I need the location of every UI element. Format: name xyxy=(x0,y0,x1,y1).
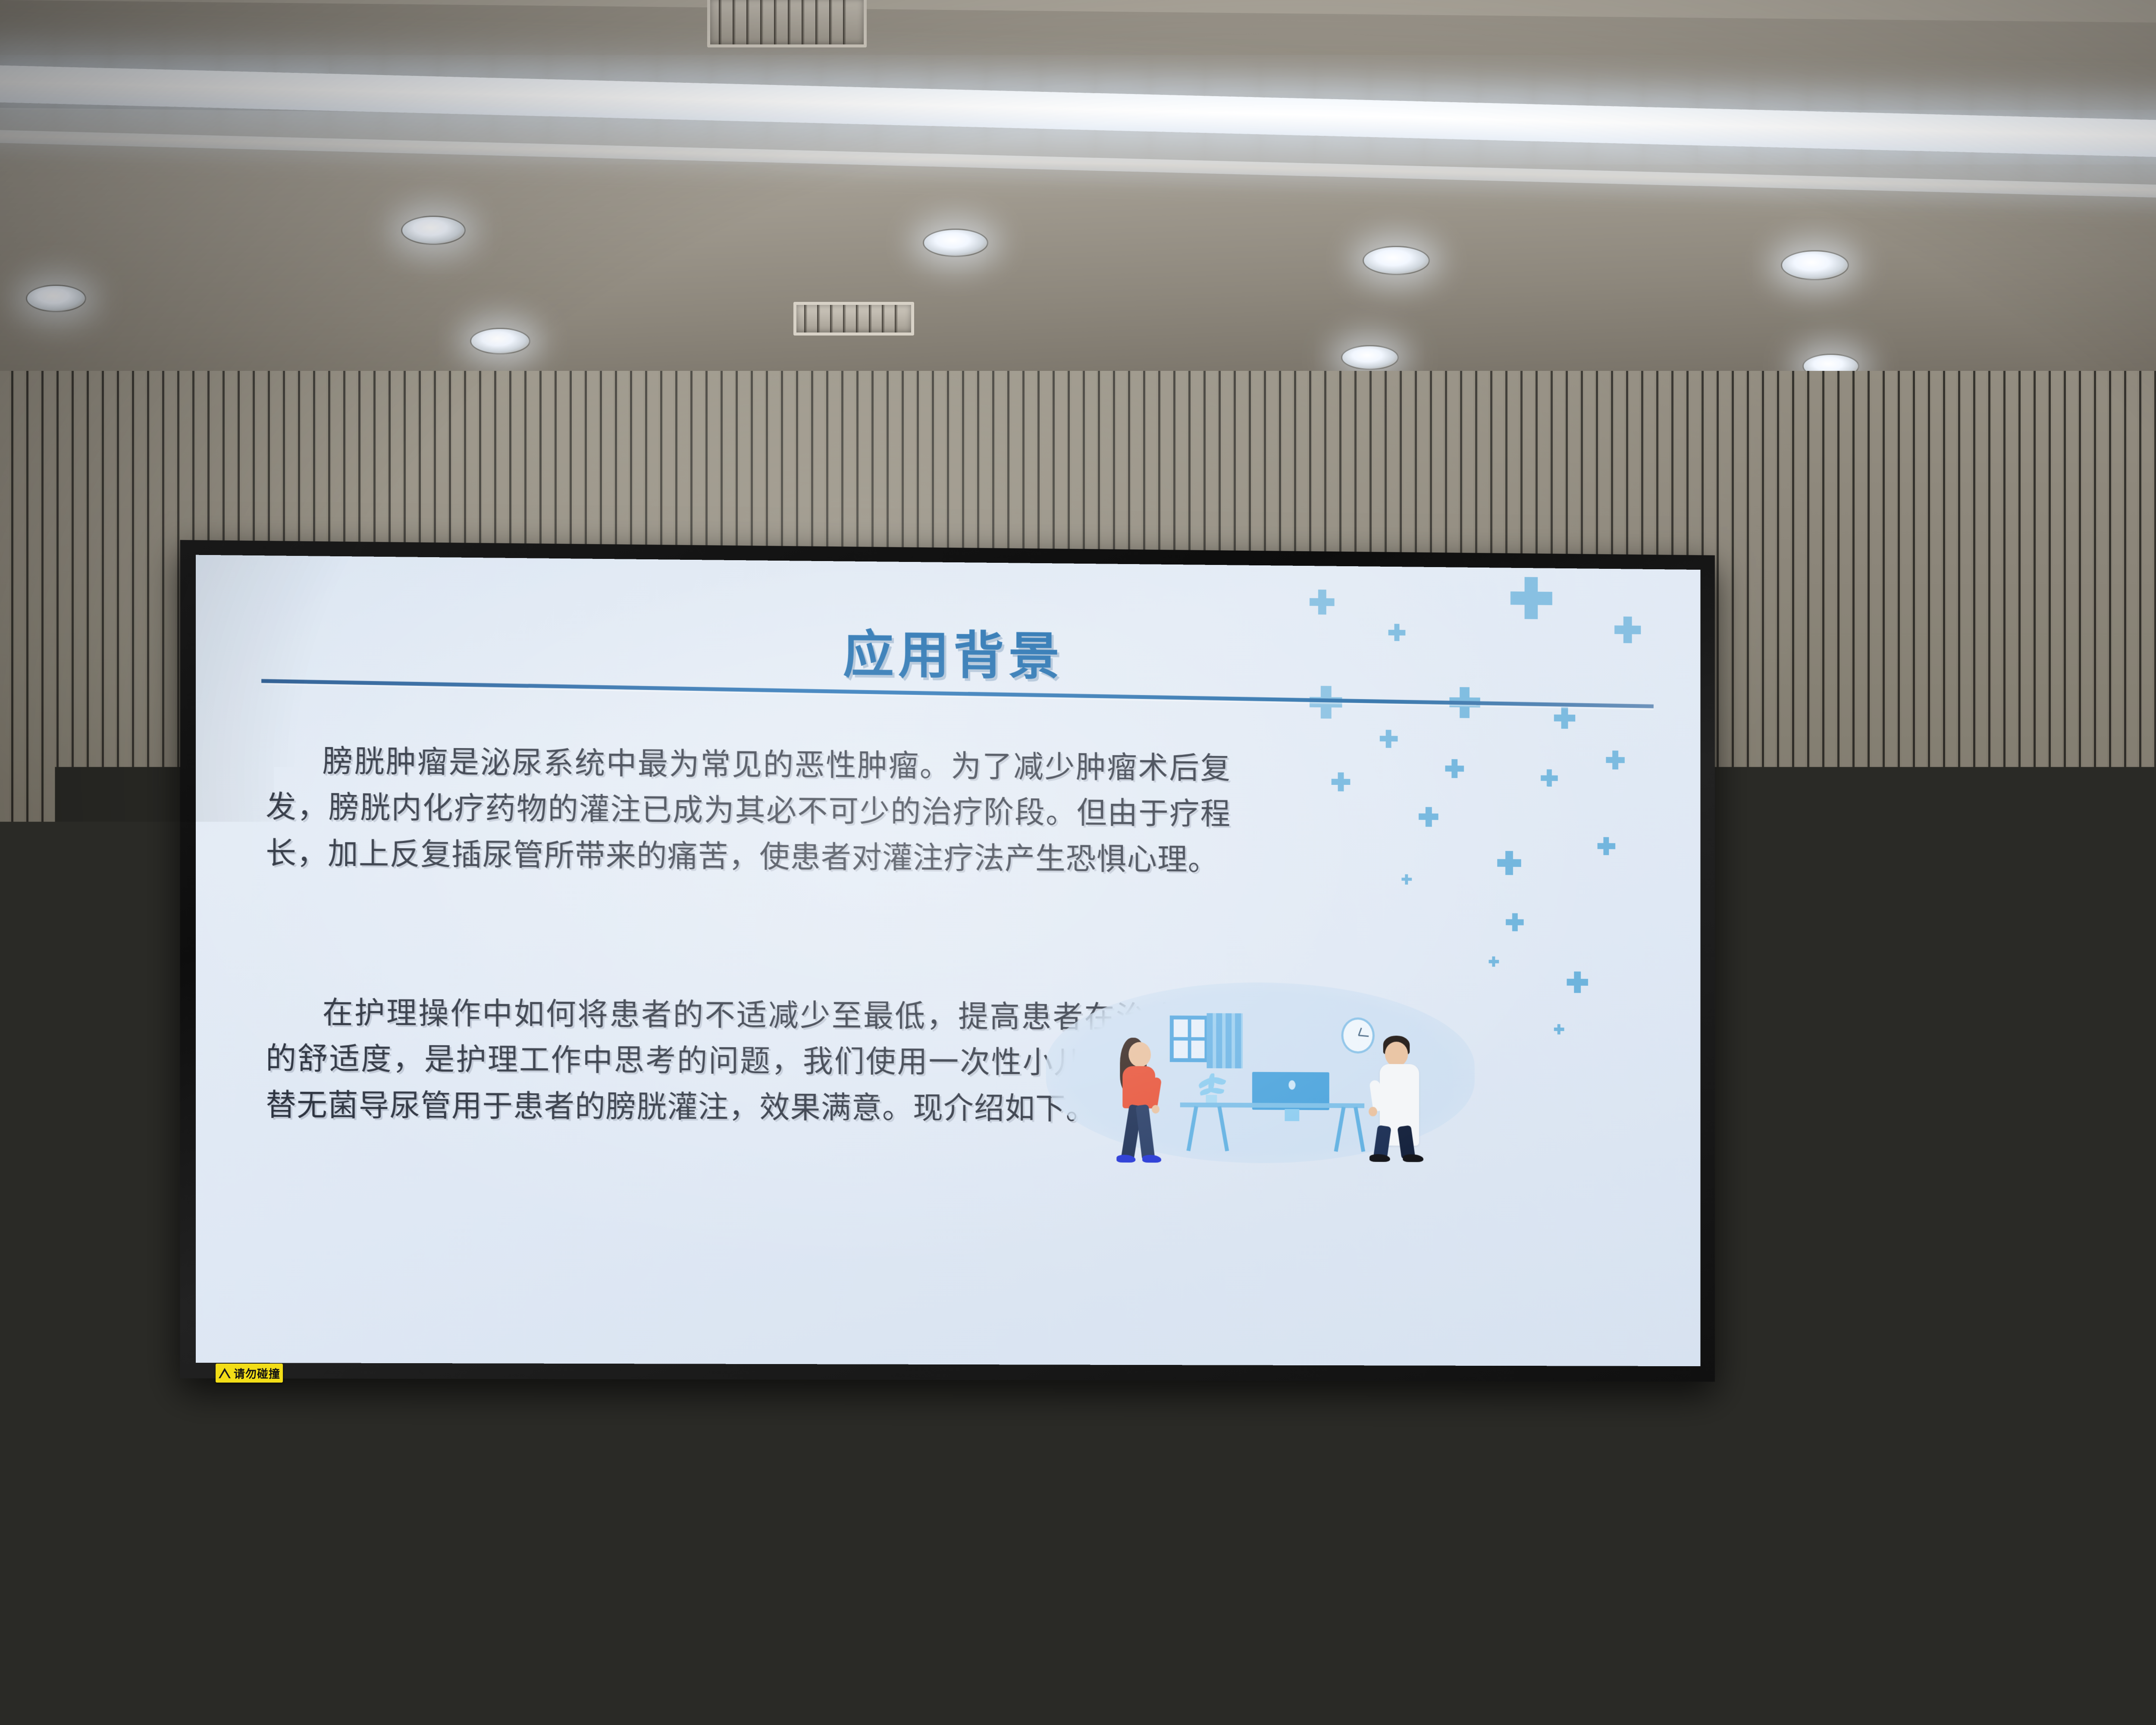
desk-leg xyxy=(1354,1107,1365,1152)
whiteboard-tool-close-icon[interactable] xyxy=(2134,1026,2145,1035)
slide-paragraph-1: 膀胱肿瘤是泌尿系统中最为常见的恶性肿瘤。为了减少肿瘤术后复发，膀胱内化疗药物的灌… xyxy=(266,738,1231,883)
medical-cross-icon xyxy=(1554,707,1575,729)
air-vent xyxy=(793,302,914,336)
desk-leg xyxy=(1334,1107,1346,1152)
whiteboard-tool-grid-icon[interactable] xyxy=(2134,1088,2145,1097)
main-projection-screen[interactable]: 应用背景 膀胱肿瘤是泌尿系统中最为常见的恶性肿瘤。为了减少肿瘤术后复发，膀胱内化… xyxy=(185,548,1720,1380)
whiteboard-tool-select-icon[interactable] xyxy=(2134,1046,2145,1056)
warning-sticker-right: 请勿碰撞 xyxy=(1636,1364,1703,1383)
glasses-lens-left xyxy=(1924,1213,1949,1226)
doctor-shoe-front xyxy=(1403,1154,1423,1162)
medical-cross-icon xyxy=(1379,730,1398,748)
bottle-cap xyxy=(121,1646,138,1662)
left-display-panel[interactable] xyxy=(0,953,121,1333)
presenter-mouth xyxy=(1946,1241,1966,1248)
illustration-curtain-icon xyxy=(1206,1013,1243,1068)
illustration-doctor-figure xyxy=(1368,1035,1432,1164)
illustration-window-icon xyxy=(1170,1016,1209,1062)
ceiling-downlight xyxy=(1781,250,1849,280)
left-panel-tray xyxy=(0,1326,117,1344)
ceiling-downlight xyxy=(26,285,86,312)
window-bar-v xyxy=(1188,1019,1191,1058)
whiteboard-tool-marker-icon[interactable] xyxy=(2134,1150,2145,1159)
presentation-clicker xyxy=(1877,1371,1908,1377)
ceiling-downlight xyxy=(1363,246,1430,275)
left-display-screen xyxy=(0,959,115,1327)
warning-triangle-icon xyxy=(218,1367,231,1379)
illustration-woman-figure xyxy=(1110,1038,1170,1163)
medical-cross-icon xyxy=(1554,1024,1564,1035)
woman-leg-back xyxy=(1135,1104,1155,1160)
warning-sticker-left: 请勿碰撞 xyxy=(216,1364,283,1383)
doctor-head xyxy=(1385,1041,1408,1066)
desk-leg xyxy=(1187,1106,1198,1151)
whiteboard-tool-eraser-icon[interactable] xyxy=(2134,1170,2145,1180)
clinic-illustration xyxy=(1106,994,1445,1168)
whiteboard-tool-pencil-icon[interactable] xyxy=(2134,1129,2145,1138)
whiteboard-tool-pen-icon[interactable] xyxy=(2134,1108,2145,1118)
medical-cross-icon xyxy=(1332,772,1351,791)
whiteboard-tray-label-left xyxy=(1778,1319,1812,1330)
glasses-lens-right xyxy=(1965,1213,1990,1226)
desk-leg xyxy=(1217,1106,1229,1151)
whiteboard-tool-image-icon[interactable] xyxy=(2134,1233,2145,1242)
presenter-hand-right xyxy=(1939,1307,1972,1335)
woman-head xyxy=(1128,1042,1151,1067)
warning-sticker-text: 请勿碰撞 xyxy=(234,1365,280,1381)
warning-sticker-text: 请勿碰撞 xyxy=(1654,1365,1701,1381)
medical-cross-icon xyxy=(1419,807,1438,827)
whiteboard-tray-label-right xyxy=(2110,1319,2156,1330)
clock-minute-hand xyxy=(1359,1035,1369,1037)
badge-number: 9 xyxy=(1995,1293,2009,1312)
illustration-desk xyxy=(1180,1103,1364,1108)
warning-triangle-icon xyxy=(1639,1367,1651,1379)
medical-cross-icon xyxy=(1401,874,1412,884)
doctor-hand xyxy=(1369,1107,1377,1117)
medical-cross-icon xyxy=(1489,957,1499,967)
woman-shoe-back xyxy=(1142,1155,1161,1163)
presenter-number-badge: 9 xyxy=(1984,1289,2020,1317)
lecture-hall-scene: 应用背景 膀胱肿瘤是泌尿系统中最为常见的恶性肿瘤。为了减少肿瘤术后复发，膀胱内化… xyxy=(0,0,2156,1725)
air-vent xyxy=(707,0,867,47)
medical-cross-icon xyxy=(1445,759,1464,778)
water-bottle xyxy=(116,1660,142,1725)
medical-cross-icon xyxy=(1506,913,1524,931)
presenter-trouser-seam xyxy=(1934,1552,1938,1725)
presenter-jacket-button xyxy=(1963,1422,1972,1429)
whiteboard-tool-color-icon[interactable] xyxy=(2134,1212,2145,1221)
side-chair-back xyxy=(0,1404,69,1434)
presentation-slide[interactable]: 应用背景 膀胱肿瘤是泌尿系统中最为常见的恶性肿瘤。为了减少肿瘤术后复发，膀胱内化… xyxy=(196,555,1700,1366)
ceiling-downlight xyxy=(1341,345,1399,370)
side-chair xyxy=(0,1414,52,1621)
presenter-fringe xyxy=(1914,1167,2000,1208)
monitor-camera-dot xyxy=(1288,1080,1295,1090)
medical-cross-icon xyxy=(1567,971,1588,993)
whiteboard-tool-page-icon[interactable] xyxy=(2134,1067,2145,1076)
presenter-figure: 9 xyxy=(1858,1164,2061,1725)
whiteboard-tool-shape-icon[interactable] xyxy=(2134,1191,2145,1201)
woman-hand xyxy=(1152,1105,1159,1113)
monitor-stand xyxy=(1285,1109,1299,1121)
glasses-bridge xyxy=(1950,1218,1965,1220)
whiteboard-brand-logo xyxy=(2092,1264,2140,1277)
medical-cross-icon xyxy=(1606,751,1624,770)
medical-cross-icon xyxy=(1497,851,1521,875)
whiteboard-tool-undo-icon[interactable] xyxy=(2134,1253,2145,1263)
ceiling xyxy=(0,0,2156,379)
ceiling-downlight xyxy=(923,229,988,257)
medical-cross-icon xyxy=(1541,769,1558,787)
ceiling-downlight xyxy=(470,328,530,354)
medical-cross-icon xyxy=(1510,577,1552,619)
ceiling-downlight xyxy=(401,216,466,245)
presenter-trousers xyxy=(1907,1492,2010,1725)
medical-cross-icon xyxy=(1597,837,1615,855)
medical-cross-icon xyxy=(1310,590,1335,615)
warning-exclamation xyxy=(221,1368,223,1373)
presenter-glasses-icon xyxy=(1923,1213,1991,1226)
whiteboard-toolbar[interactable] xyxy=(2132,1026,2147,1283)
presenter-jacket-button xyxy=(1963,1380,1972,1387)
warning-exclamation xyxy=(1642,1368,1643,1373)
slide-title: 应用背景 xyxy=(196,607,1700,695)
